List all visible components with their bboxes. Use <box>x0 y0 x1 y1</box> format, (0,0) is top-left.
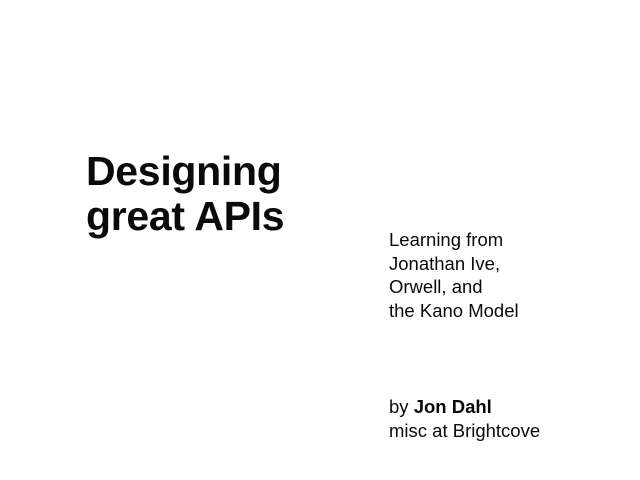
slide-subtitle-line-3: Orwell, and <box>389 275 619 299</box>
byline-prefix: by <box>389 396 414 417</box>
slide-byline: by Jon Dahl misc at Brightcove <box>389 395 619 442</box>
byline-author-line: by Jon Dahl <box>389 395 619 419</box>
byline-affiliation: misc at Brightcove <box>389 419 619 443</box>
slide-subtitle-line-4: the Kano Model <box>389 299 619 323</box>
slide-title-line-1: Designing <box>86 149 386 194</box>
slide-title-line-2: great APIs <box>86 194 386 239</box>
slide-subtitle-line-1: Learning from <box>389 228 619 252</box>
presentation-title-slide: Designing great APIs Learning from Jonat… <box>0 0 640 480</box>
slide-subtitle-line-2: Jonathan Ive, <box>389 252 619 276</box>
byline-author-name: Jon Dahl <box>414 396 492 417</box>
slide-subtitle: Learning from Jonathan Ive, Orwell, and … <box>389 228 619 322</box>
slide-title: Designing great APIs <box>86 149 386 239</box>
